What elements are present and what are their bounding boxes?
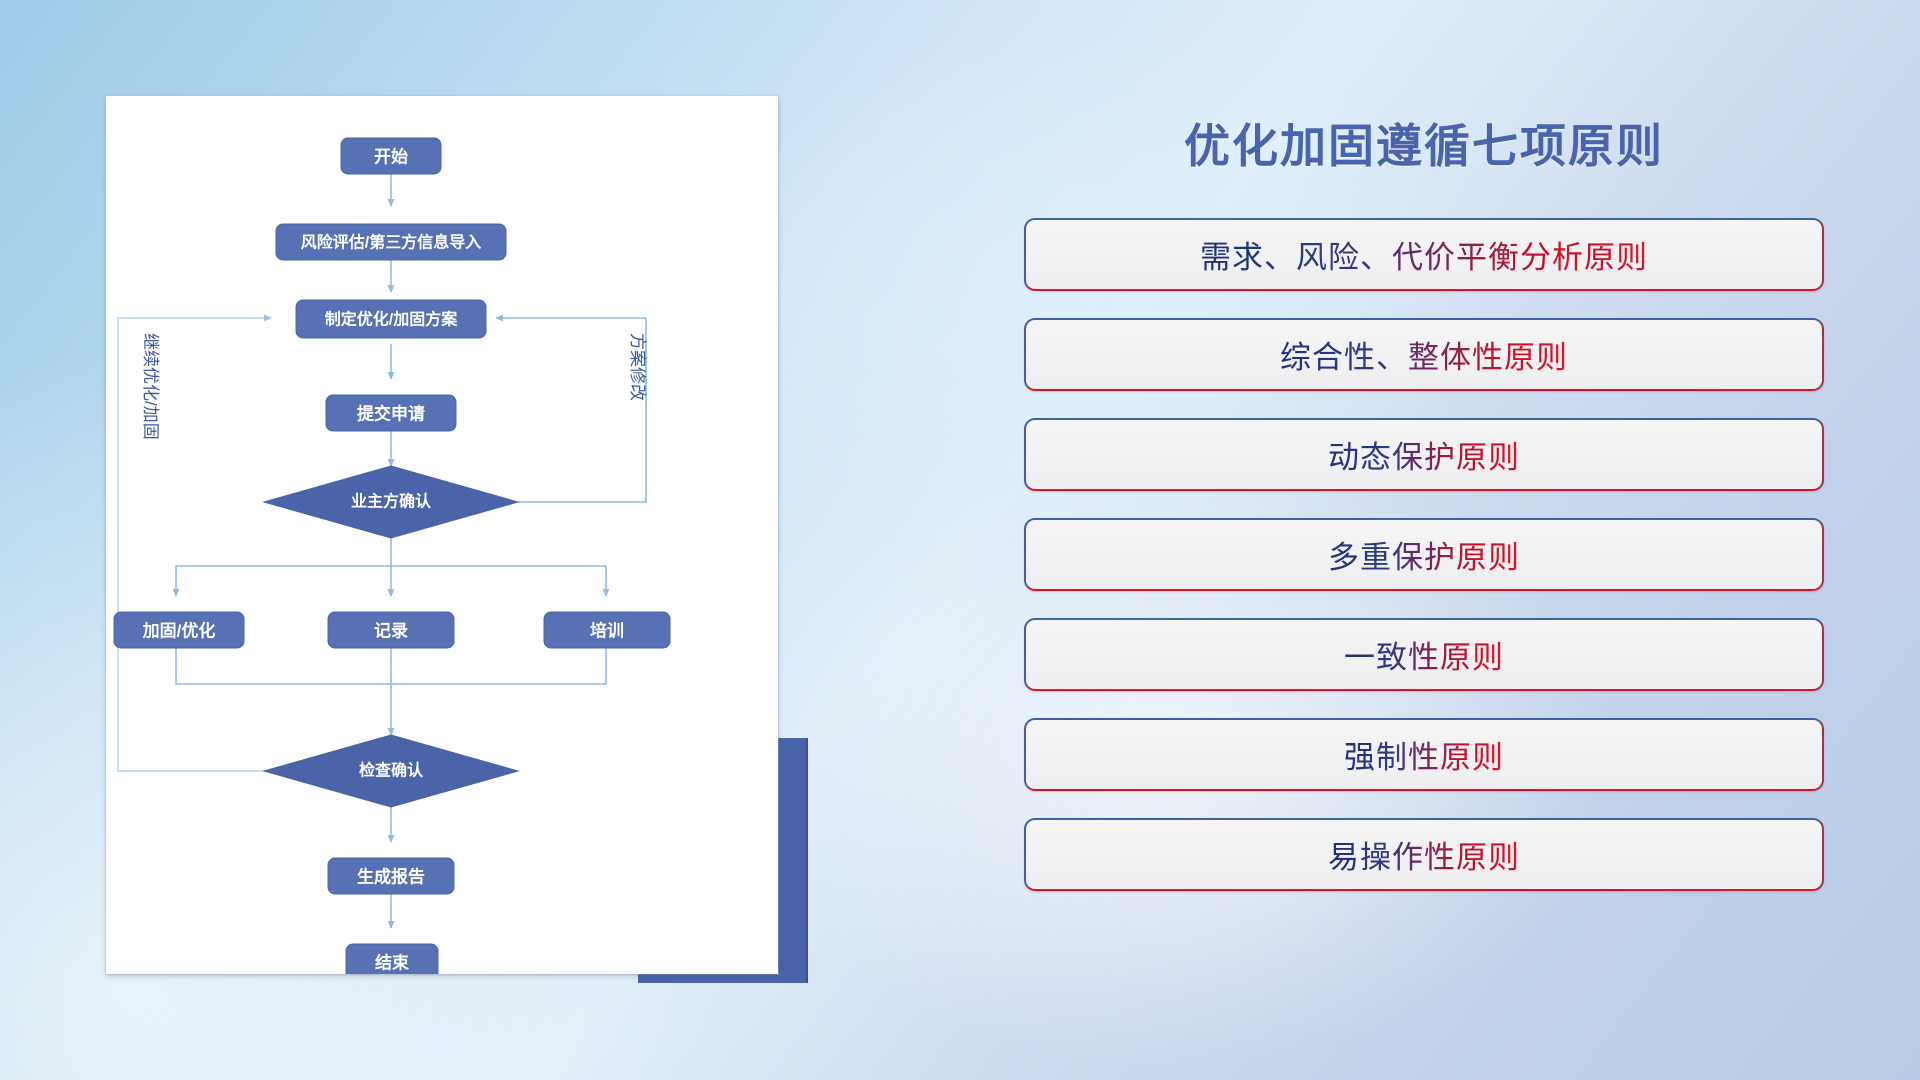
panel-title: 优化加固遵循七项原则 [1024, 110, 1824, 176]
flow-edge-label-left-loop: 继续优化/加固 [141, 333, 160, 440]
flow-node-label: 提交申请 [357, 404, 425, 424]
principle-label: 动态保护原则 [1328, 432, 1520, 477]
principles-panel: 优化加固遵循七项原则 需求、风险、代价平衡分析原则 综合性、整体性原则 动态保护… [1024, 96, 1824, 996]
flow-node-label: 培训 [590, 621, 624, 641]
flow-node-label: 制定优化/加固方案 [325, 310, 458, 329]
flow-node-label: 结束 [375, 953, 409, 973]
flow-node-report[interactable]: 生成报告 [328, 858, 454, 894]
flow-node-end[interactable]: 结束 [346, 944, 438, 974]
flow-edge-label-right-loop: 方案修改 [628, 333, 647, 401]
flow-node-record[interactable]: 记录 [328, 612, 454, 648]
flow-node-check-confirm[interactable]: 检查确认 [264, 735, 518, 807]
flow-node-training[interactable]: 培训 [544, 612, 670, 648]
principle-label: 一致性原则 [1344, 632, 1504, 677]
principle-label: 易操作性原则 [1328, 832, 1520, 877]
flow-node-submit[interactable]: 提交申请 [326, 395, 456, 431]
principle-label: 综合性、整体性原则 [1280, 332, 1568, 377]
slide-canvas: 开始 风险评估/第三方信息导入 制定优化/加固方案 提交申请 业主方确认 [0, 0, 1920, 1080]
flow-node-label: 风险评估/第三方信息导入 [301, 233, 481, 252]
principle-card[interactable]: 动态保护原则 [1024, 418, 1824, 491]
flow-node-risk-assessment[interactable]: 风险评估/第三方信息导入 [276, 224, 506, 260]
flow-node-label: 生成报告 [357, 867, 425, 887]
principle-card[interactable]: 需求、风险、代价平衡分析原则 [1024, 218, 1824, 291]
principle-label: 强制性原则 [1344, 732, 1504, 777]
principle-card[interactable]: 一致性原则 [1024, 618, 1824, 691]
flow-node-reinforce[interactable]: 加固/优化 [114, 612, 244, 648]
flowchart-card: 开始 风险评估/第三方信息导入 制定优化/加固方案 提交申请 业主方确认 [106, 96, 778, 974]
principle-label: 多重保护原则 [1328, 532, 1520, 577]
flowchart-diagram: 开始 风险评估/第三方信息导入 制定优化/加固方案 提交申请 业主方确认 [106, 96, 778, 974]
principle-card[interactable]: 多重保护原则 [1024, 518, 1824, 591]
flow-node-start[interactable]: 开始 [341, 138, 441, 174]
flow-node-label: 加固/优化 [142, 621, 216, 641]
principle-card[interactable]: 强制性原则 [1024, 718, 1824, 791]
principle-label: 需求、风险、代价平衡分析原则 [1200, 232, 1648, 277]
flow-node-label: 检查确认 [359, 761, 424, 780]
flow-node-owner-confirm[interactable]: 业主方确认 [264, 466, 518, 538]
flow-node-label: 记录 [374, 622, 408, 641]
flow-node-label: 开始 [374, 147, 408, 167]
flow-node-plan[interactable]: 制定优化/加固方案 [296, 300, 486, 338]
flow-node-label: 业主方确认 [351, 492, 432, 511]
principle-card[interactable]: 综合性、整体性原则 [1024, 318, 1824, 391]
principle-card[interactable]: 易操作性原则 [1024, 818, 1824, 891]
principle-list: 需求、风险、代价平衡分析原则 综合性、整体性原则 动态保护原则 多重保护原则 一… [1024, 218, 1824, 918]
